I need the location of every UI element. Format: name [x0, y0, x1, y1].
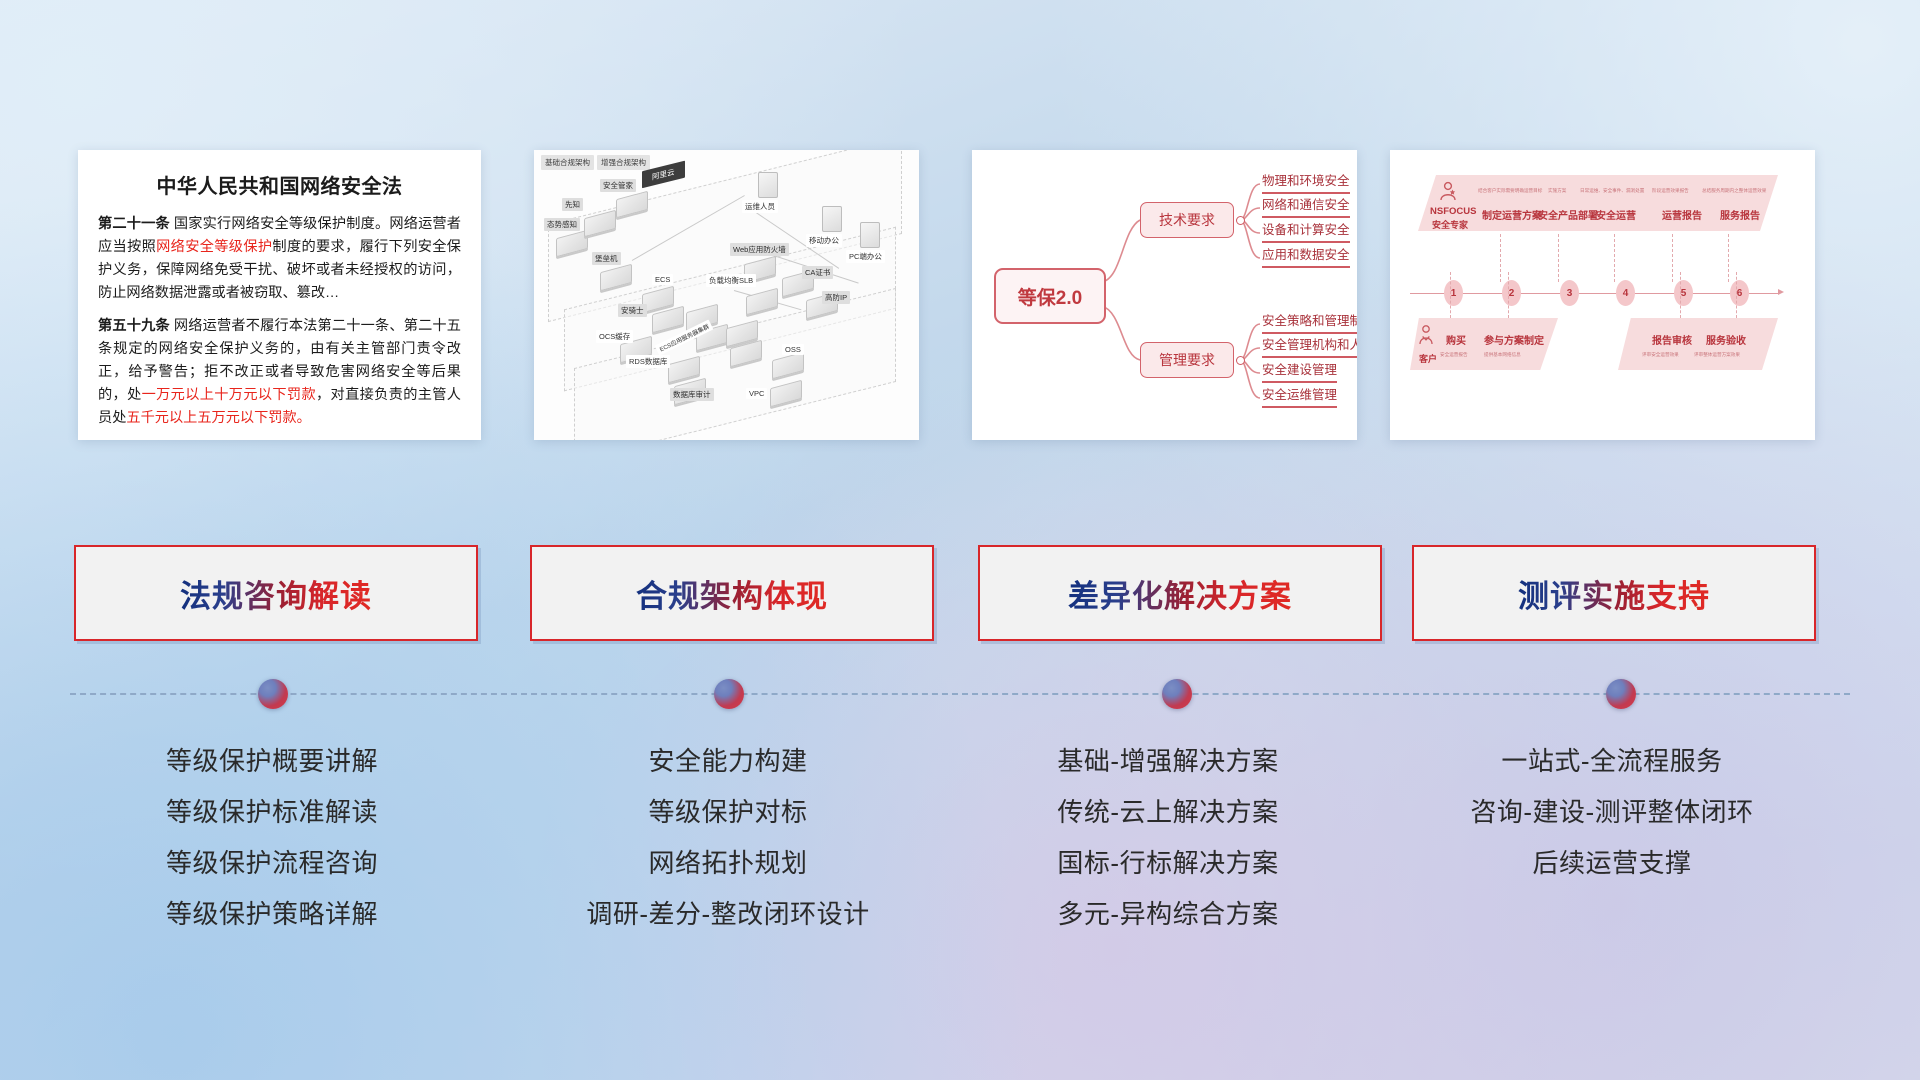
vendor-brand-sub: 安全专家 — [1432, 218, 1468, 231]
connector-lower-1 — [1450, 272, 1451, 318]
mindmap-diagram: 等保2.0 技术要求 物理和环境安全 网络和通信安全 设备和计算安全 应用和数据… — [972, 150, 1357, 440]
milestone-5: 5 — [1674, 280, 1693, 306]
milestone-2: 2 — [1502, 280, 1521, 306]
bottom-step-4-sub: 评审整体运营方案效果 — [1694, 352, 1740, 358]
section-title-1: 法规咨询解读 — [180, 571, 372, 616]
milestone-4: 4 — [1616, 280, 1635, 306]
list-item: 多元-异构综合方案 — [968, 893, 1368, 935]
node-situational-awareness — [556, 234, 588, 253]
label-rds-database: RDS数据库 — [626, 355, 670, 368]
reference-cards-row: 中华人民共和国网络安全法 第二十一条 国家实行网络安全等级保护制度。网络运营者应… — [0, 0, 1920, 450]
law-article-21: 第二十一条 国家实行网络安全等级保护制度。网络运营者应当按照网络安全等级保护制度… — [98, 213, 461, 305]
card-cybersecurity-law: 中华人民共和国网络安全法 第二十一条 国家实行网络安全等级保护制度。网络运营者应… — [78, 150, 481, 440]
leaf-security-org-personnel: 安全管理机构和人员 — [1262, 334, 1357, 358]
milestone-3: 3 — [1560, 280, 1579, 306]
section-title-2: 合规架构体现 — [636, 571, 828, 616]
leaf-device-compute-security: 设备和计算安全 — [1262, 219, 1350, 243]
card-nsfocus-service-timeline: NSFOCUS 安全专家 结合客户实际需要明确运营目标 制定运营方案 实施方案 … — [1390, 150, 1815, 440]
section-items-1: 等级保护概要讲解 等级保护标准解读 等级保护流程咨询 等级保护策略详解 — [72, 740, 472, 944]
section-title-row: 法规咨询解读 合规架构体现 差异化解决方案 测评实施支持 — [0, 545, 1920, 645]
node-ecs — [642, 290, 674, 309]
label-oss: OSS — [782, 344, 804, 355]
customer-icon — [1416, 324, 1436, 346]
architecture-tabs: 基础合规架构 增强合规架构 — [541, 155, 650, 170]
section-items-3: 基础-增强解决方案 传统-云上解决方案 国标-行标解决方案 多元-异构综合方案 — [968, 740, 1368, 944]
node-bastion-host — [600, 268, 632, 287]
section-items-2: 安全能力构建 等级保护对标 网络拓扑规划 调研-差分-整改闭环设计 — [528, 740, 928, 944]
label-ecs: ECS — [652, 274, 673, 285]
list-item: 基础-增强解决方案 — [968, 740, 1368, 782]
section-items-4: 一站式-全流程服务 咨询-建设-测评整体闭环 后续运营支撑 — [1412, 740, 1812, 893]
node-security-butler — [616, 195, 648, 214]
connector-5 — [1728, 234, 1729, 282]
node-slb — [746, 292, 778, 311]
section-title-box-1[interactable]: 法规咨询解读 — [74, 545, 478, 641]
collapse-dot-management[interactable] — [1236, 356, 1245, 365]
node-pc-office — [860, 222, 880, 248]
top-step-4-title: 运营报告 — [1662, 207, 1702, 222]
leaf-security-construction-mgmt: 安全建设管理 — [1262, 359, 1337, 383]
label-anti-ddos-ip: 高防IP — [822, 291, 850, 304]
timeline-marker-1[interactable] — [258, 679, 288, 709]
mindmap-branch-management: 管理要求 — [1140, 342, 1234, 378]
node-rds-database — [668, 360, 700, 379]
law-article-59: 第五十九条 网络运营者不履行本法第二十一条、第二十五条规定的网络安全保护义务的，… — [98, 315, 461, 430]
connector-lower-4 — [1736, 272, 1737, 318]
list-item: 等级保护流程咨询 — [72, 842, 472, 884]
timeline-axis — [1410, 293, 1780, 294]
node-ops-staff — [758, 172, 778, 198]
label-anqishi: 安骑士 — [618, 304, 647, 317]
connector-1 — [1500, 234, 1501, 282]
list-item: 等级保护概要讲解 — [72, 740, 472, 782]
list-item: 后续运营支撑 — [1412, 842, 1812, 884]
connector-2 — [1558, 234, 1559, 282]
bottom-step-2-title: 参与方案制定 — [1484, 332, 1544, 347]
label-db-audit: 数据库审计 — [670, 388, 714, 401]
server-icon — [822, 206, 842, 232]
top-step-5-sub: 总结服务周期内之整体运营效果 — [1702, 188, 1766, 194]
label-xianzhi: 先知 — [562, 198, 583, 211]
top-step-1-sub: 结合客户实际需要明确运营目标 — [1478, 188, 1542, 194]
bottom-step-1-title: 购买 — [1446, 332, 1466, 347]
server-icon — [860, 222, 880, 248]
timeline-arrow-icon — [1778, 289, 1784, 295]
top-step-5-title: 服务报告 — [1720, 207, 1760, 222]
article-21-highlight: 网络安全等级保护 — [156, 239, 272, 255]
vendor-brand: NSFOCUS — [1430, 206, 1476, 217]
node-ecs-cluster-c — [726, 324, 758, 343]
bottom-step-3-sub: 评审安全运营效果 — [1642, 352, 1679, 358]
section-items-row: 等级保护概要讲解 等级保护标准解读 等级保护流程咨询 等级保护策略详解 安全能力… — [0, 740, 1920, 980]
top-step-2-sub: 实施方案 — [1548, 188, 1566, 194]
label-security-butler: 安全管家 — [600, 179, 636, 192]
milestone-6: 6 — [1730, 280, 1749, 306]
list-item: 调研-差分-整改闭环设计 — [528, 893, 928, 935]
law-title: 中华人民共和国网络安全法 — [98, 170, 461, 199]
bottom-step-2-sub: 提供基本网络信息 — [1484, 352, 1521, 358]
mindmap-root-node: 等保2.0 — [994, 268, 1106, 324]
card-compliance-architecture: 基础合规架构 增强合规架构 态势感知 — [534, 150, 919, 440]
article-21-label: 第二十一条 — [98, 216, 170, 232]
list-item: 咨询-建设-测评整体闭环 — [1412, 791, 1812, 833]
label-situational-awareness: 态势感知 — [544, 218, 580, 231]
node-oss — [772, 356, 804, 375]
timeline-marker-3[interactable] — [1162, 679, 1192, 709]
top-step-2-title: 安全产品部署 — [1538, 207, 1598, 222]
mindmap-branch-technical: 技术要求 — [1140, 202, 1234, 238]
leaf-security-policy-system: 安全策略和管理制度 — [1262, 310, 1357, 334]
section-title-3: 差异化解决方案 — [1068, 571, 1292, 616]
leaf-network-communication-security: 网络和通信安全 — [1262, 194, 1350, 218]
list-item: 国标-行标解决方案 — [968, 842, 1368, 884]
connector-lower-3 — [1680, 272, 1681, 318]
top-step-4-sub: 阶段运营效果报告 — [1652, 188, 1689, 194]
list-item: 安全能力构建 — [528, 740, 928, 782]
timeline-dashed-line — [70, 693, 1850, 698]
architecture-diagram: 基础合规架构 增强合规架构 态势感知 — [534, 150, 919, 440]
label-bastion-host: 堡垒机 — [592, 252, 621, 265]
list-item: 等级保护对标 — [528, 791, 928, 833]
vendor-band — [1418, 175, 1778, 231]
top-step-3-sub: 日常运维、安全事件、漏洞处置 — [1580, 188, 1644, 194]
node-xianzhi — [584, 214, 616, 233]
node-mobile-office — [822, 206, 842, 232]
customer-label: 客户 — [1419, 352, 1437, 365]
label-pc-office: PC端办公 — [846, 250, 885, 263]
leaf-security-operations-mgmt: 安全运维管理 — [1262, 384, 1337, 408]
list-item: 等级保护标准解读 — [72, 791, 472, 833]
security-expert-icon — [1436, 180, 1460, 204]
top-step-3-title: 安全运营 — [1596, 207, 1636, 222]
list-item: 一站式-全流程服务 — [1412, 740, 1812, 782]
leaf-physical-environment-security: 物理和环境安全 — [1262, 170, 1350, 194]
article-59-fine-person: 五千元以上五万元以下罚款。 — [126, 410, 310, 426]
customer-band-right — [1618, 318, 1778, 370]
timeline-marker-2[interactable] — [714, 679, 744, 709]
label-ops-staff: 运维人员 — [742, 200, 778, 213]
milestone-1: 1 — [1444, 280, 1463, 306]
top-step-1-title: 制定运营方案 — [1482, 207, 1542, 222]
bottom-step-3-title: 报告审核 — [1652, 332, 1692, 347]
node-ecs-cluster-d — [730, 344, 762, 363]
node-vpc — [770, 384, 802, 403]
leaf-application-data-security: 应用和数据安全 — [1262, 244, 1350, 268]
tab-basic-architecture[interactable]: 基础合规架构 — [541, 155, 594, 170]
node-anqishi — [652, 310, 684, 329]
list-item: 网络拓扑规划 — [528, 842, 928, 884]
law-text-body: 中华人民共和国网络安全法 第二十一条 国家实行网络安全等级保护制度。网络运营者应… — [78, 150, 481, 440]
list-item: 传统-云上解决方案 — [968, 791, 1368, 833]
connector-4 — [1672, 234, 1673, 282]
tab-enhanced-architecture[interactable]: 增强合规架构 — [597, 155, 650, 170]
article-59-fine-company: 一万元以上十万元以下罚款 — [142, 387, 316, 403]
section-title-box-3[interactable]: 差异化解决方案 — [978, 545, 1382, 641]
label-slb: 负载均衡SLB — [706, 274, 756, 287]
timeline-marker-4[interactable] — [1606, 679, 1636, 709]
card-dengbao-mindmap: 等保2.0 技术要求 物理和环境安全 网络和通信安全 设备和计算安全 应用和数据… — [972, 150, 1357, 440]
list-item: 等级保护策略详解 — [72, 893, 472, 935]
label-mobile-office: 移动办公 — [806, 234, 842, 247]
article-59-label: 第五十九条 — [98, 318, 170, 334]
server-icon — [758, 172, 778, 198]
nsfocus-timeline: NSFOCUS 安全专家 结合客户实际需要明确运营目标 制定运营方案 实施方案 … — [1390, 150, 1815, 440]
connector-lower-2 — [1508, 272, 1509, 318]
label-waf: Web应用防火墙 — [730, 243, 789, 256]
section-title-box-2[interactable]: 合规架构体现 — [530, 545, 934, 641]
collapse-dot-technical[interactable] — [1236, 216, 1245, 225]
label-ca-certificate: CA证书 — [802, 266, 833, 279]
section-title-4: 测评实施支持 — [1518, 571, 1710, 616]
label-vpc: VPC — [746, 388, 767, 399]
bottom-step-4-title: 服务验收 — [1706, 332, 1746, 347]
slide-canvas: 中华人民共和国网络安全法 第二十一条 国家实行网络安全等级保护制度。网络运营者应… — [0, 0, 1920, 1080]
section-title-box-4[interactable]: 测评实施支持 — [1412, 545, 1816, 641]
label-ocs-cache: OCS缓存 — [596, 330, 633, 343]
bottom-step-1-sub: 安全运营报告 — [1440, 352, 1468, 358]
connector-3 — [1614, 234, 1615, 282]
